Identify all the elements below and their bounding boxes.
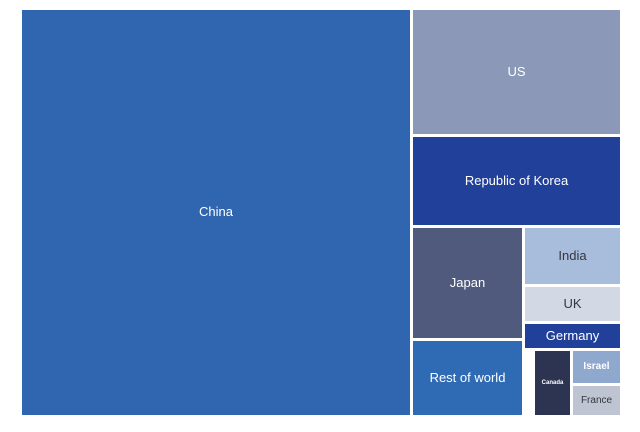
treemap-tile-label: US — [505, 65, 527, 80]
treemap-tile-germany[interactable]: Germany — [525, 324, 620, 348]
treemap-tile-label: Israel — [581, 361, 611, 373]
treemap-tile-republic-of-korea[interactable]: Republic of Korea — [413, 137, 620, 225]
treemap-tile-label: Rest of world — [428, 371, 508, 386]
treemap-tile-china[interactable]: China — [22, 10, 410, 415]
treemap-tile-france[interactable]: France — [573, 386, 620, 415]
treemap-tile-israel[interactable]: Israel — [573, 351, 620, 383]
treemap-tile-label: Canada — [540, 380, 566, 387]
treemap-tile-label: Republic of Korea — [463, 174, 570, 189]
treemap-tile-rest-of-world[interactable]: Rest of world — [413, 341, 522, 415]
treemap-tile-japan[interactable]: Japan — [413, 228, 522, 338]
treemap-chart: China US Republic of Korea Japan Rest of… — [0, 0, 640, 432]
treemap-tile-label: Germany — [544, 329, 601, 344]
treemap-tile-canada[interactable]: Canada — [535, 351, 570, 415]
treemap-tile-label: France — [579, 395, 614, 407]
treemap-tile-uk[interactable]: UK — [525, 287, 620, 321]
treemap-tile-us[interactable]: US — [413, 10, 620, 134]
treemap-tile-label: Japan — [448, 276, 487, 291]
treemap-tile-label: UK — [561, 297, 583, 312]
treemap-tile-india[interactable]: India — [525, 228, 620, 284]
treemap-tile-label: India — [556, 249, 588, 264]
treemap-tile-label: China — [197, 205, 235, 220]
